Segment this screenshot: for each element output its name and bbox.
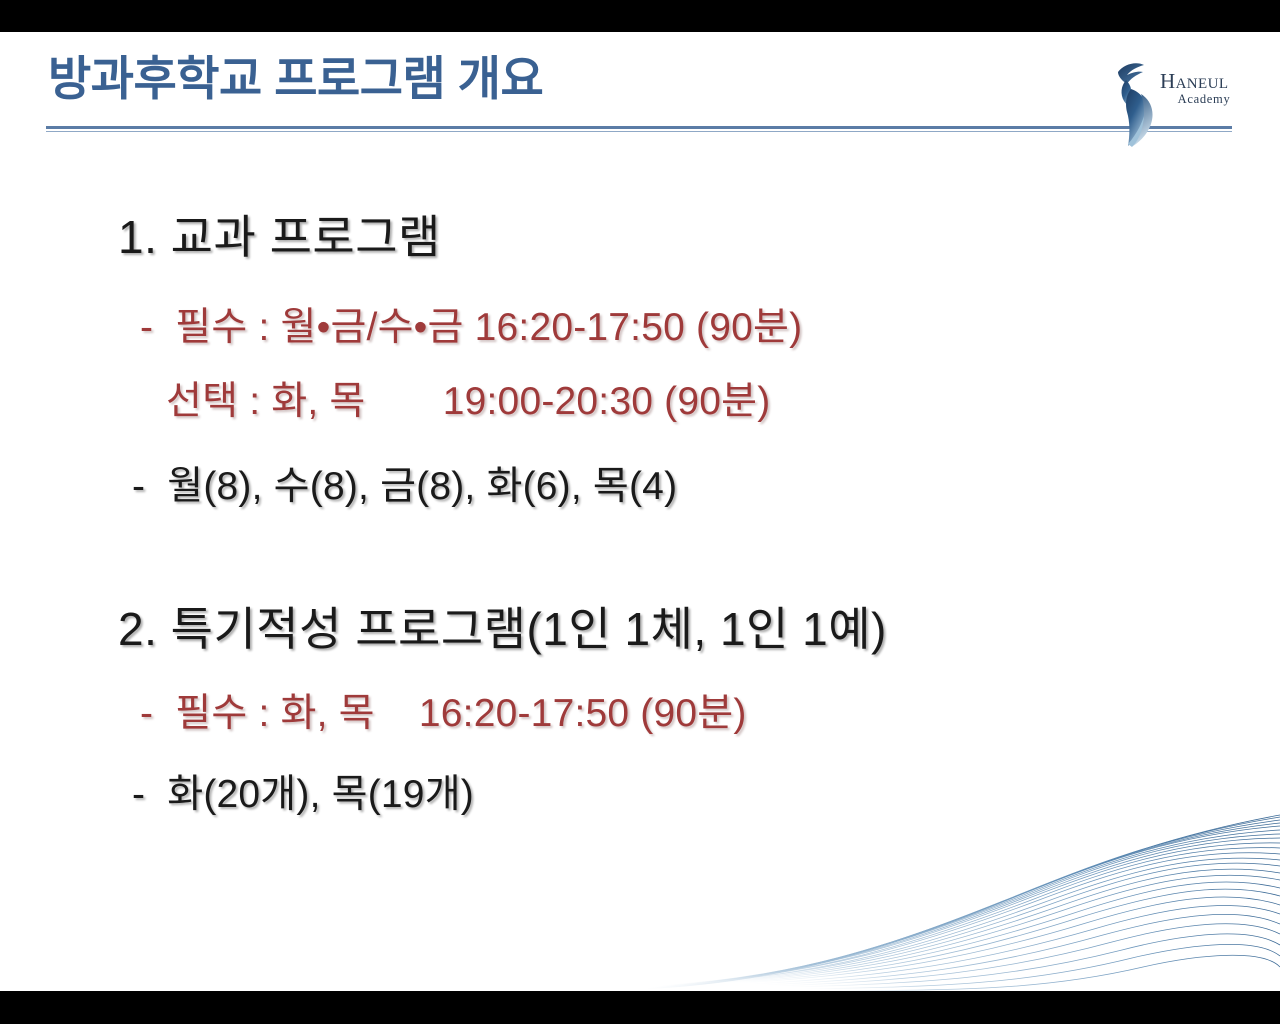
section-1-line-3: - 월(8), 수(8), 금(8), 화(6), 목(4) [132,467,677,506]
section-2-line-1: - 필수 : 화, 목 16:20-17:50 (90분) [140,694,747,733]
presentation-slide: 방과후학교 프로그램 개요 [0,0,1280,1024]
section-2-heading: 2. 특기적성 프로그램(1인 1체, 1인 1예) [118,606,887,652]
logo-subtitle: Academy [1160,92,1252,106]
top-letterbox-bar [0,0,1280,32]
section-1-line-1: - 필수 : 월•금/수•금 16:20-17:50 (90분) [140,308,802,347]
logo-wordmark: Haneul Academy [1160,70,1252,106]
logo-name: Haneul [1160,70,1252,92]
section-2-line-2: - 화(20개), 목(19개) [132,775,474,814]
section-1-heading: 1. 교과 프로그램 [118,214,441,260]
section-1-line-2: 선택 : 화, 목 19:00-20:30 (90분) [166,382,770,421]
crane-bird-icon [1108,56,1160,148]
title-underline [46,126,1232,129]
title-underline-secondary [46,131,1232,132]
decorative-wave-graphic [580,811,1280,991]
page-title: 방과후학교 프로그램 개요 [48,54,543,103]
brand-logo: Haneul Academy [1108,54,1250,150]
bottom-letterbox-bar [0,991,1280,1024]
slide-canvas: 방과후학교 프로그램 개요 [0,32,1280,991]
